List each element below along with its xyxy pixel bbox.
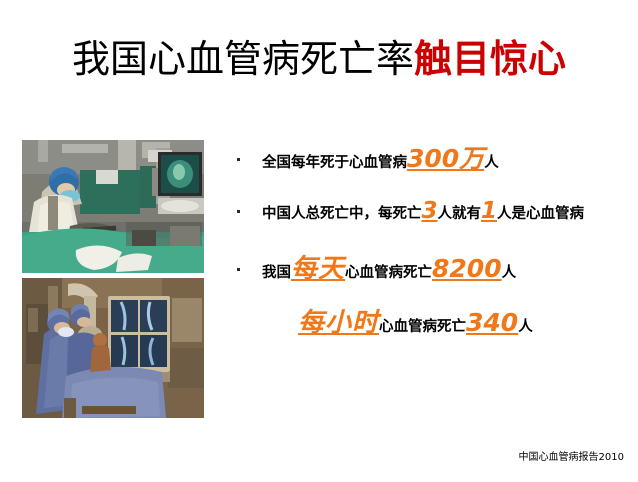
bullet-marker-icon [237, 210, 240, 213]
bullet-marker-icon [237, 158, 240, 161]
bullet-item-death-ratio: 中国人总死亡中，每死亡3人就有1人是心血管病 [232, 180, 630, 242]
bullet-marker-icon [237, 268, 240, 271]
bullet-3-posttext: 人 [502, 265, 517, 281]
bullet-3-highlight-8200: 8200 [432, 254, 502, 283]
bullet-1-posttext: 人 [484, 155, 499, 171]
bullet-4-highlight-340: 340 [466, 308, 518, 337]
bullet-2-pretext: 中国人总死亡中，每死亡 [262, 206, 422, 222]
bullet-4-highlight-hourly: 每小时 [298, 308, 379, 338]
bullet-3-midtext: 心血管病死亡 [345, 265, 432, 281]
bullet-4-posttext: 人 [518, 319, 533, 335]
title-red-emphasis: 触目惊心 [414, 39, 566, 81]
source-citation: 中国心血管病报告2010 [519, 448, 624, 463]
cath-lab-photo [22, 278, 204, 418]
operating-room-photo [22, 140, 204, 273]
bullet-item-hourly-deaths: 每小时心血管病死亡340人 [232, 296, 630, 350]
bullet-item-annual-deaths: 全国每年死于心血管病300万人 [232, 138, 630, 180]
slide-canvas: 我国心血管病死亡率触目惊心 [0, 0, 638, 482]
bullet-list: 全国每年死于心血管病300万人 中国人总死亡中，每死亡3人就有1人是心血管病 我… [232, 138, 630, 350]
bullet-1-pretext: 全国每年死于心血管病 [262, 155, 407, 171]
cath-lab-illustration [22, 278, 204, 418]
title-black-text: 我国心血管病死亡率 [72, 39, 414, 81]
bullet-2-posttext: 人是心血管病 [497, 206, 584, 222]
bullet-2-highlight-1: 1 [481, 198, 497, 224]
page-title: 我国心血管病死亡率触目惊心 [0, 36, 638, 84]
bullet-item-daily-deaths: 我国每天心血管病死亡8200人 [232, 242, 630, 296]
bullet-4-midtext: 心血管病死亡 [379, 319, 466, 335]
bullet-2-midtext: 人就有 [438, 206, 482, 222]
bullet-1-highlight-300wan: 300万 [407, 144, 484, 173]
bullet-2-highlight-3: 3 [422, 198, 438, 224]
bullet-3-pretext: 我国 [262, 265, 291, 281]
bullet-3-highlight-daily: 每天 [291, 254, 345, 284]
operating-room-illustration [22, 140, 204, 273]
